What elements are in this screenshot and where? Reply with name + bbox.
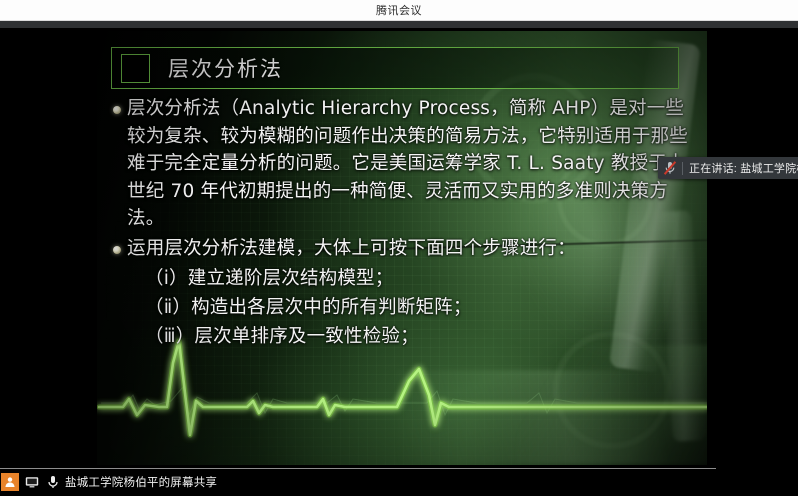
bullet-icon [109, 246, 125, 263]
slide-step-item: （ⅱ）构造出各层次中的所有判断矩阵； [145, 293, 699, 322]
microphone-muted-icon [663, 160, 677, 176]
slide-paragraph-text: 运用层次分析法建模，大体上可按下面四个步骤进行： [127, 235, 576, 263]
monitor-icon[interactable] [23, 473, 40, 491]
window-title: 腾讯会议 [376, 2, 422, 18]
screen-share-bar: 盐城工学院杨伯平的屏幕共享 [0, 468, 798, 496]
slide-paragraph: 运用层次分析法建模，大体上可按下面四个步骤进行： [109, 235, 699, 263]
screen-share-label: 盐城工学院杨伯平的屏幕共享 [65, 474, 217, 490]
slide-step-item: （ⅰ）建立递阶层次结构模型； [145, 264, 699, 293]
slide-decor-fold-b [517, 345, 707, 465]
empty-square-marker-icon [121, 54, 150, 83]
slide-title-bar: 层次分析法 [111, 47, 679, 89]
screen-root: 腾讯会议 [0, 0, 798, 496]
badge-divider [682, 162, 683, 175]
slide-step-item: （ⅲ）层次单排序及一致性检验； [145, 322, 699, 351]
window-title-bar: 腾讯会议 [0, 0, 798, 21]
slide-title-text: 层次分析法 [168, 53, 283, 83]
slide-paragraph-text: 层次分析法（Analytic Hierarchy Process，简称 AHP）… [127, 95, 699, 233]
slide-body: 层次分析法（Analytic Hierarchy Process，简称 AHP）… [109, 95, 699, 351]
shared-screen-stage: 层次分析法 层次分析法（Analytic Hierarchy Process，简… [0, 28, 798, 468]
person-icon [1, 473, 19, 491]
bullet-icon [109, 106, 125, 233]
slide-paragraph: 层次分析法（Analytic Hierarchy Process，简称 AHP）… [109, 95, 699, 233]
slide-decor-fold-a [397, 370, 707, 465]
share-bar-top-line [0, 468, 716, 469]
presentation-slide: 层次分析法 层次分析法（Analytic Hierarchy Process，简… [97, 31, 707, 465]
active-speaker-label: 正在讲话: 盐城工学院杨伯平; [689, 160, 798, 176]
active-speaker-badge: 正在讲话: 盐城工学院杨伯平; [658, 157, 798, 179]
window-chrome-strip [0, 21, 798, 28]
microphone-icon[interactable] [44, 473, 61, 491]
